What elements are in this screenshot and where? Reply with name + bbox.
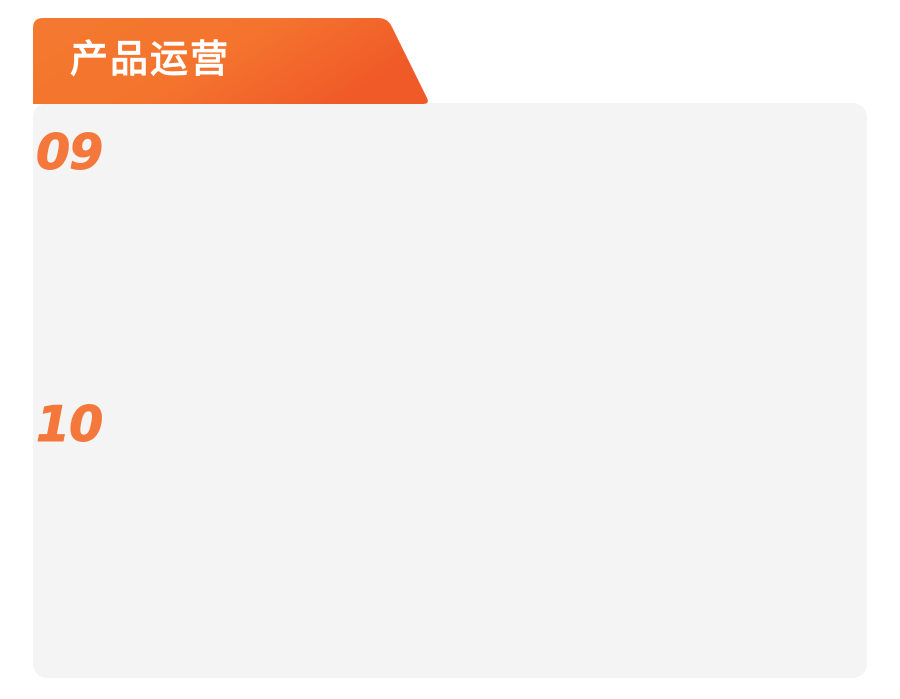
section-10-number: 10: [36, 400, 102, 449]
header-banner: 产品运营: [33, 18, 433, 104]
content-card: [33, 103, 867, 678]
page-title: 产品运营: [70, 41, 230, 79]
section-09-number: 09: [36, 128, 102, 177]
